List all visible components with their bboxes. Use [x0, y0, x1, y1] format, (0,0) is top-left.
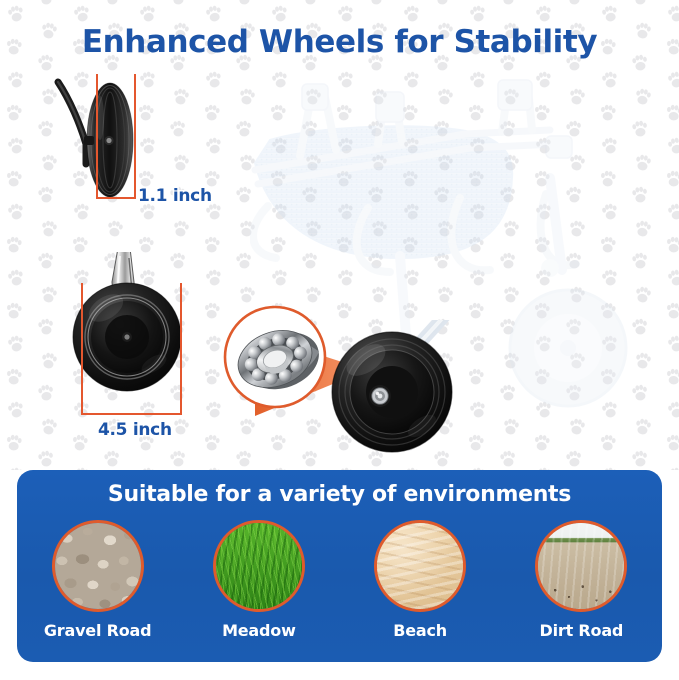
wheel-front-view-illustration — [72, 252, 192, 412]
dimension-line-right-4-5 — [180, 283, 182, 415]
dimension-connector-4-5 — [81, 413, 181, 415]
beach-photo — [374, 520, 466, 612]
environment-label: Gravel Road — [44, 621, 152, 640]
bearing-callout-wedge — [255, 330, 385, 420]
environments-list: Gravel Road Meadow Beach Dirt Road — [17, 520, 662, 640]
dirt-road-photo — [535, 520, 627, 612]
paw-print-background — [0, 0, 679, 470]
ball-bearing-illustration — [221, 303, 329, 411]
environment-item-gravel-road[interactable]: Gravel Road — [23, 520, 173, 640]
environment-label: Meadow — [222, 621, 296, 640]
dimension-line-right-1-1 — [134, 74, 136, 199]
environment-item-beach[interactable]: Beach — [345, 520, 495, 640]
environment-label: Dirt Road — [540, 621, 624, 640]
dimension-label-wheel-diameter: 4.5 inch — [98, 420, 172, 440]
bearing-ring-border — [225, 307, 325, 407]
gravel-road-photo — [52, 520, 144, 612]
wheel-side-view-illustration — [52, 78, 162, 203]
dog-wheelchair-frame-illustration — [250, 58, 670, 458]
environment-item-dirt-road[interactable]: Dirt Road — [506, 520, 656, 640]
meadow-photo — [213, 520, 305, 612]
infographic-stage: Enhanced Wheels for Stability — [0, 0, 679, 680]
hero-wheel-illustration — [322, 320, 462, 460]
environments-panel: Suitable for a variety of environments G… — [17, 470, 662, 662]
environments-title: Suitable for a variety of environments — [17, 482, 662, 507]
dimension-label-wheel-width: 1.1 inch — [138, 186, 212, 206]
page-title: Enhanced Wheels for Stability — [0, 24, 679, 60]
environment-label: Beach — [393, 621, 447, 640]
dimension-connector-1-1 — [96, 197, 135, 199]
dimension-line-left-4-5 — [81, 283, 83, 415]
environment-item-meadow[interactable]: Meadow — [184, 520, 334, 640]
dimension-line-left-1-1 — [96, 74, 98, 199]
